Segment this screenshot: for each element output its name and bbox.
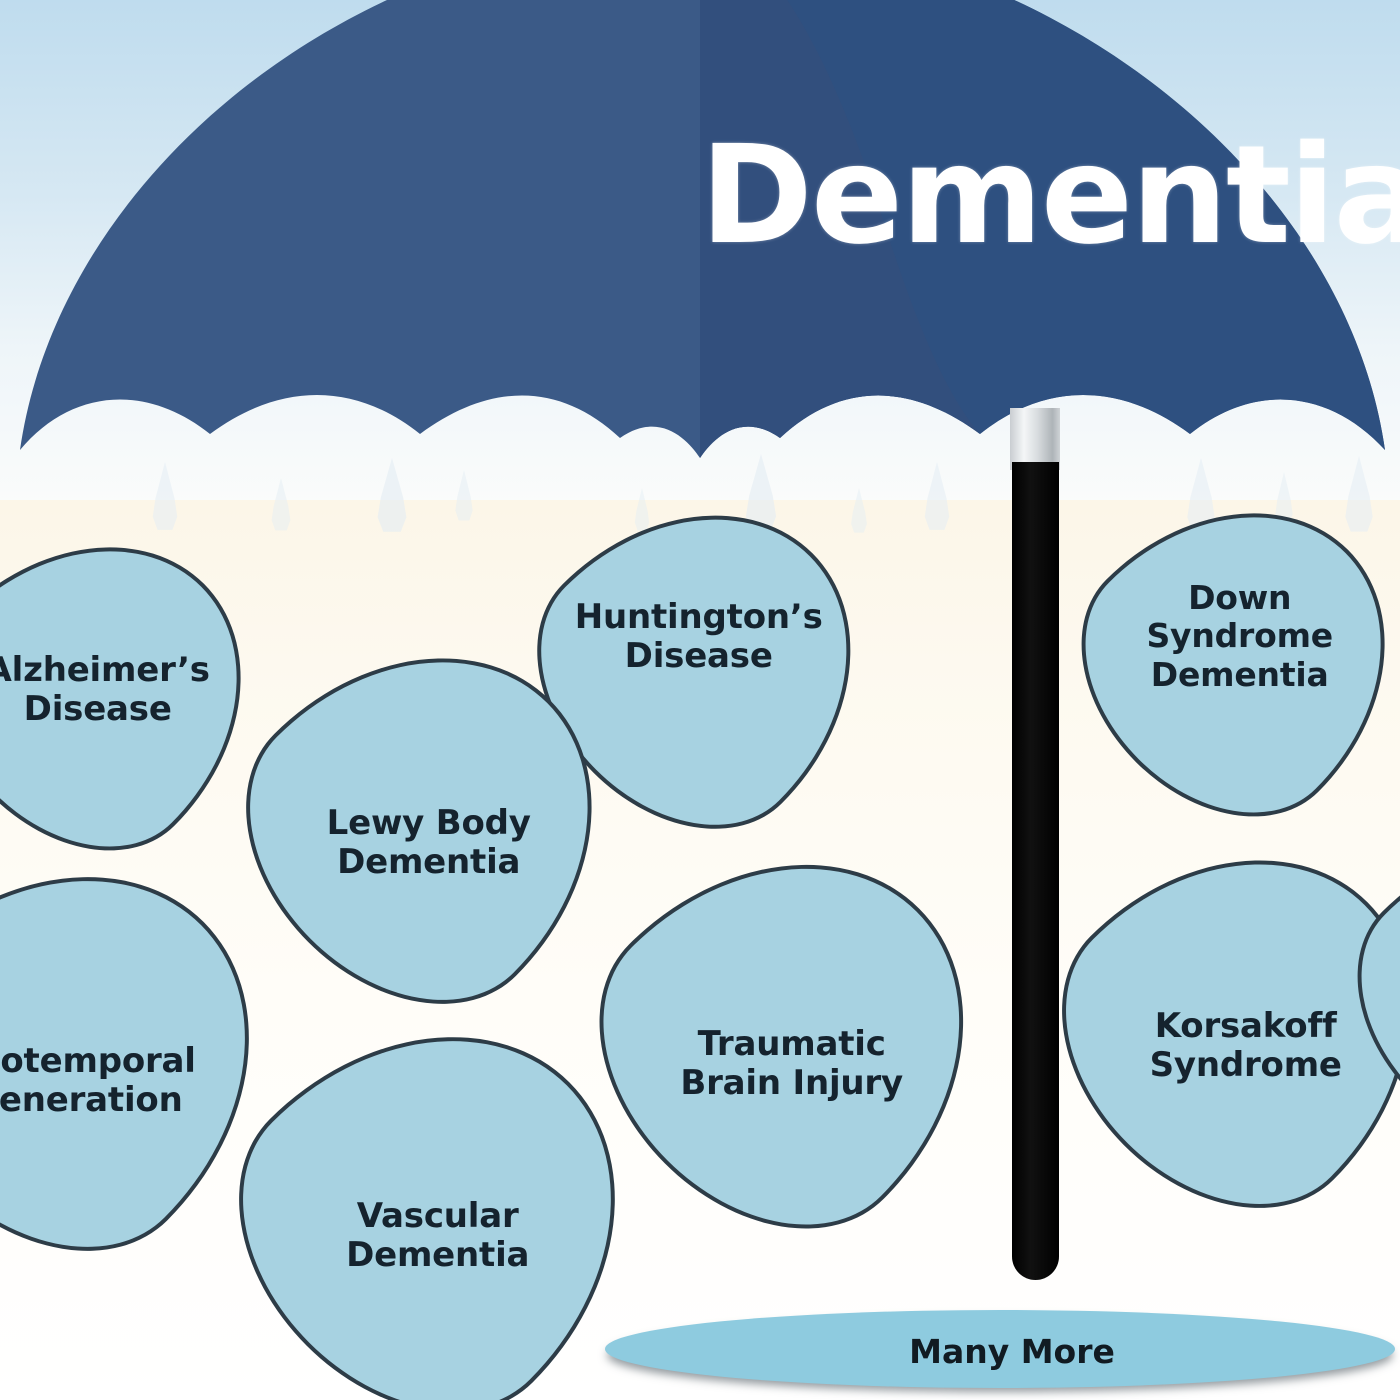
droplet-label: atotemporal generation [0, 1042, 244, 1121]
puddle-many-more[interactable]: Many More [605, 1310, 1395, 1388]
page-title: Dementia [700, 128, 1380, 264]
puddle-label: Many More [909, 1332, 1115, 1371]
umbrella-pole-ferrule [1010, 408, 1060, 470]
umbrella-pole [1012, 462, 1059, 1280]
droplet-label: Vascular Dementia [273, 1197, 603, 1276]
droplet-label: Down Syndrome Dementia [1115, 579, 1365, 694]
droplet-label: Lewy Body Dementia [279, 804, 579, 883]
droplet-label: Alzheimer’s Disease [0, 651, 233, 730]
droplet-label: Huntington’s Disease [559, 598, 839, 677]
droplet-label: Traumatic Brain Injury [632, 1025, 952, 1104]
droplet-label: Korsakoff Syndrome [1096, 1007, 1396, 1086]
dementia-umbrella-infographic: Dementia Alzheimer’s Disease Huntington’… [0, 0, 1400, 1400]
